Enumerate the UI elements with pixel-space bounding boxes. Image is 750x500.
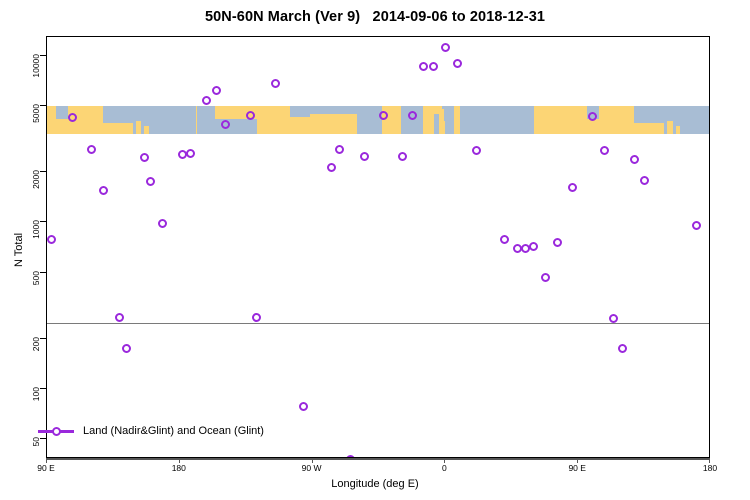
y-tick-label: 200 bbox=[31, 337, 41, 397]
data-point bbox=[379, 111, 388, 120]
data-point bbox=[640, 176, 649, 185]
reference-line bbox=[47, 323, 709, 324]
sea-rect bbox=[310, 106, 357, 114]
x-tick-label: 90 E bbox=[568, 463, 586, 473]
data-point bbox=[202, 96, 211, 105]
data-point bbox=[360, 152, 369, 161]
plot-area bbox=[46, 36, 710, 458]
data-point bbox=[568, 183, 577, 192]
land-sliver bbox=[439, 109, 443, 129]
sea-rect bbox=[290, 106, 309, 117]
data-point bbox=[99, 186, 108, 195]
legend-line-swatch bbox=[38, 430, 74, 433]
x-tick-label: 180 bbox=[172, 463, 186, 473]
sea-rect bbox=[357, 106, 382, 134]
x-axis-line bbox=[46, 458, 710, 460]
land-sliver bbox=[454, 106, 460, 134]
data-point bbox=[630, 155, 639, 164]
land-sliver bbox=[144, 126, 148, 134]
data-point bbox=[221, 120, 230, 129]
data-point bbox=[47, 235, 56, 244]
data-point bbox=[186, 149, 195, 158]
data-point bbox=[327, 163, 336, 172]
legend: Land (Nadir&Glint) and Ocean (Glint) bbox=[38, 425, 264, 437]
x-tick-label: 0 bbox=[442, 463, 447, 473]
x-tick-label: 90 E bbox=[37, 463, 55, 473]
x-tick-label: 90 W bbox=[302, 463, 322, 473]
land-sliver bbox=[136, 121, 142, 134]
data-point bbox=[500, 235, 509, 244]
data-point bbox=[618, 344, 627, 353]
sea-rect bbox=[462, 113, 466, 133]
land-sliver bbox=[301, 121, 307, 134]
data-point bbox=[68, 113, 77, 122]
data-point bbox=[335, 145, 344, 154]
data-point bbox=[252, 313, 261, 322]
data-point bbox=[521, 244, 530, 253]
y-tick-label: 2000 bbox=[31, 170, 41, 230]
land-sliver bbox=[217, 106, 230, 118]
data-point bbox=[115, 313, 124, 322]
data-point bbox=[453, 59, 462, 68]
y-axis-title: N Total bbox=[13, 233, 25, 267]
land-rect bbox=[196, 106, 197, 134]
y-tick-label: 10000 bbox=[31, 54, 41, 114]
x-tick-label: 180 bbox=[703, 463, 717, 473]
data-point bbox=[146, 177, 155, 186]
data-point bbox=[140, 153, 149, 162]
land-sliver bbox=[676, 126, 680, 134]
legend-label: Land (Nadir&Glint) and Ocean (Glint) bbox=[83, 425, 264, 437]
legend-marker-icon bbox=[52, 427, 61, 436]
data-point bbox=[692, 221, 701, 230]
x-axis-title: Longitude (deg E) bbox=[0, 478, 750, 490]
land-sliver bbox=[667, 121, 673, 134]
land-sliver bbox=[434, 106, 438, 114]
land-sliver bbox=[257, 106, 287, 134]
chart-canvas: 50N-60N March (Ver 9) 2014-09-06 to 2018… bbox=[0, 0, 750, 500]
sea-rect bbox=[56, 106, 68, 119]
data-point bbox=[553, 238, 562, 247]
data-point bbox=[472, 146, 481, 155]
world-map-strip bbox=[47, 37, 709, 457]
land-sliver bbox=[286, 119, 295, 134]
data-point bbox=[87, 145, 96, 154]
chart-title: 50N-60N March (Ver 9) 2014-09-06 to 2018… bbox=[0, 9, 750, 25]
data-point bbox=[541, 273, 550, 282]
data-point bbox=[246, 111, 255, 120]
sea-rect bbox=[475, 106, 534, 134]
data-point bbox=[398, 152, 407, 161]
